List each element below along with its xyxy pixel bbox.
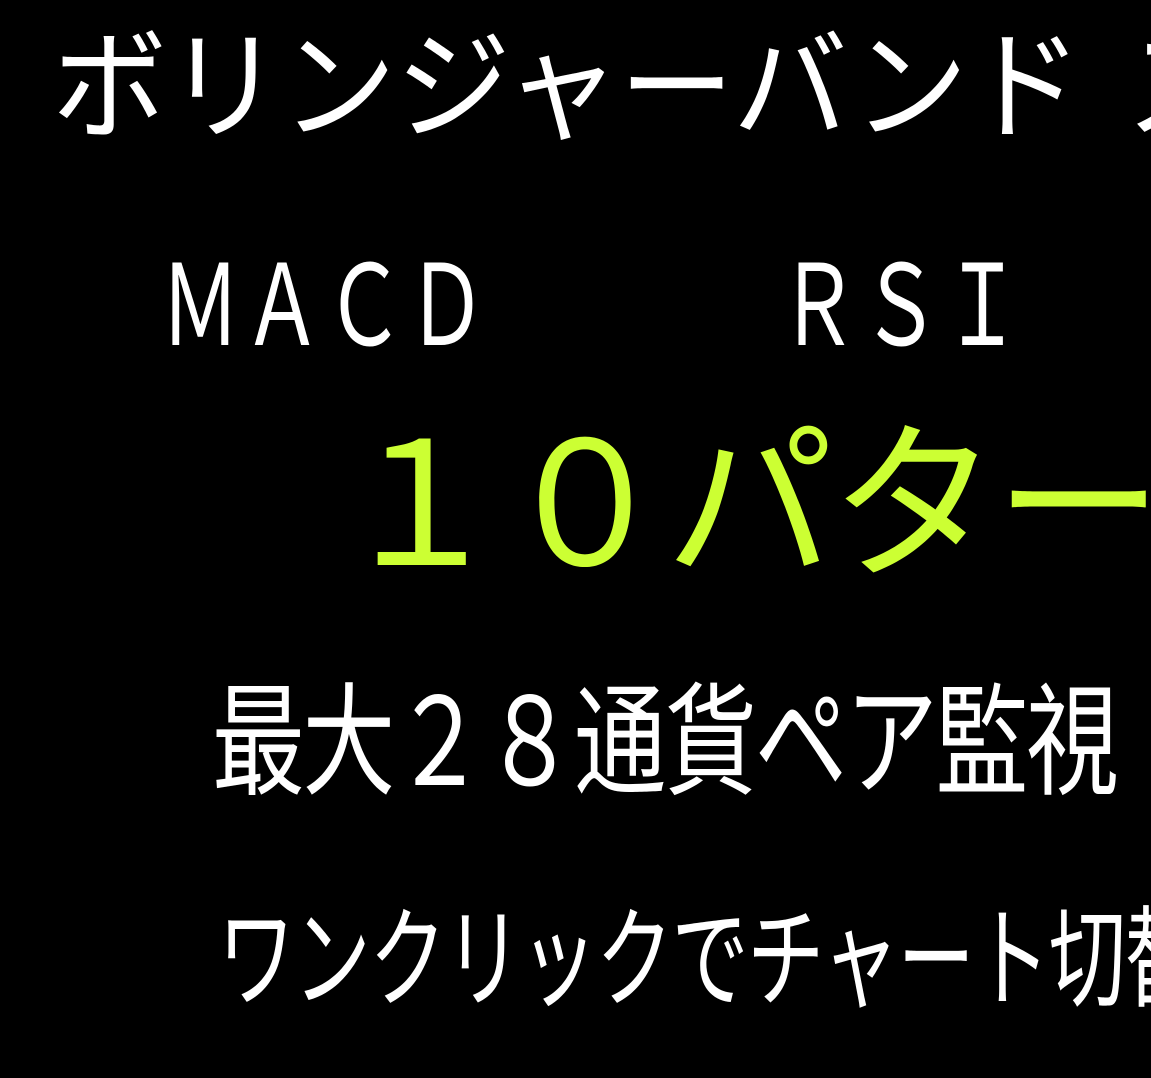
- currency-pairs-headline: 最大２８通貨ペア監視: [212, 682, 1116, 804]
- macd-label: ＭＡＣＤ: [160, 252, 488, 364]
- one-click-switch-headline: ワンクリックでチャート切替: [218, 906, 1151, 1016]
- stochastics-label: ストキャスティクス: [1126, 28, 1151, 148]
- indicators-headline: ボリンジャーバンドストキャスティクス: [52, 28, 1106, 148]
- pattern-count-headline: １０パターン: [336, 420, 1151, 592]
- rsi-label: ＲＳＩ: [778, 252, 1024, 364]
- bollinger-band-label: ボリンジャーバンド: [52, 28, 1082, 148]
- oscillators-row: ＭＡＣＤ ＲＳＩ: [0, 252, 1151, 372]
- promo-poster: ボリンジャーバンドストキャスティクス ＭＡＣＤ ＲＳＩ １０パターン 最大２８通…: [0, 0, 1151, 1078]
